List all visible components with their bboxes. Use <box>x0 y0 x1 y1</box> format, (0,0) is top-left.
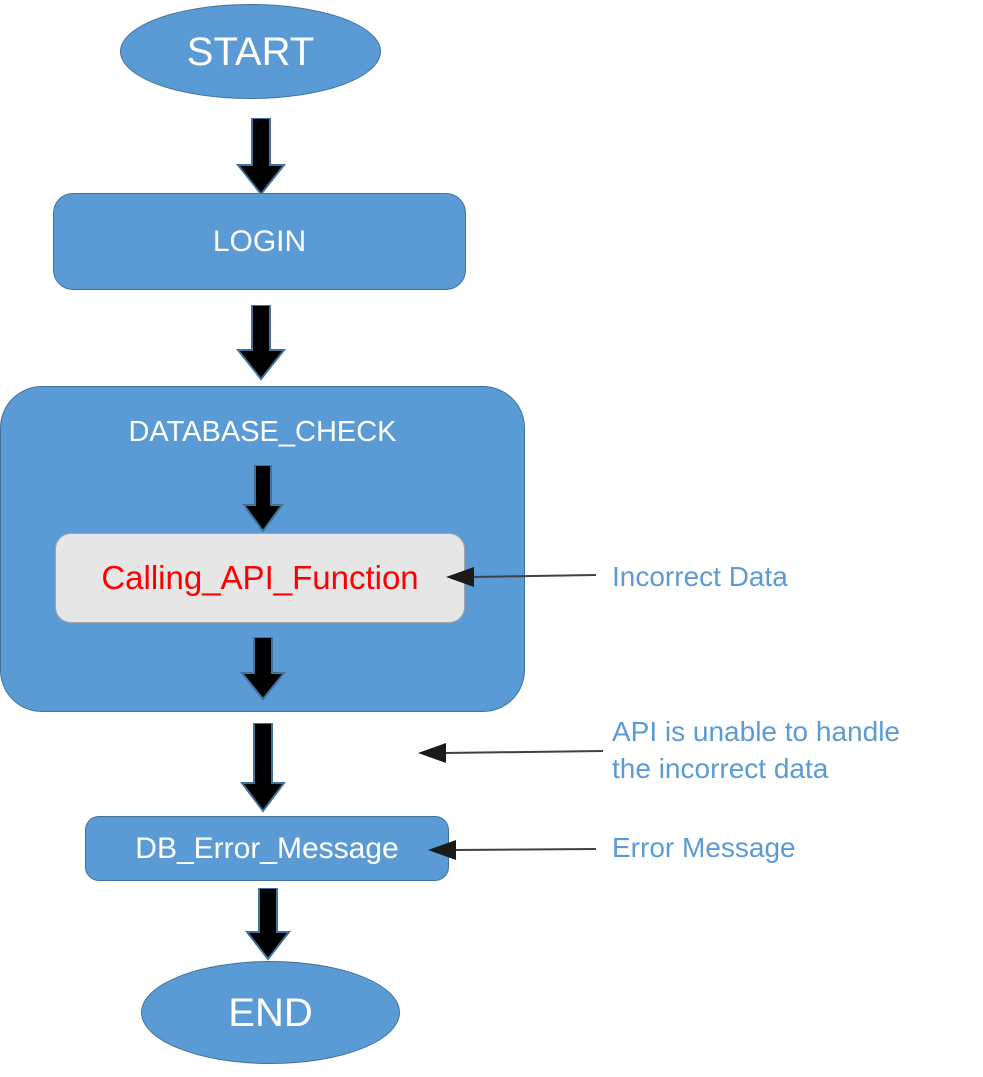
flow-arrow-database-check-to-api <box>240 465 286 533</box>
node-calling-api-function[interactable]: Calling_API_Function <box>55 533 465 623</box>
flow-arrow-db-error-to-end <box>243 888 293 961</box>
flow-arrow-start-to-login <box>233 118 289 196</box>
flow-arrow-api-to-container-exit <box>238 637 288 701</box>
annotation-connector-error-message <box>428 833 596 867</box>
annotation-connector-incorrect-data <box>446 560 596 594</box>
flow-arrow-login-to-database-check <box>233 305 289 381</box>
annotation-label-error-message: Error Message <box>612 830 796 867</box>
node-database-check-label: DATABASE_CHECK <box>128 417 396 449</box>
node-login-label: LOGIN <box>213 225 306 258</box>
node-start[interactable]: START <box>120 4 381 99</box>
annotation-connector-api-unable <box>418 736 603 770</box>
flow-arrow-database-check-to-db-error <box>238 723 288 813</box>
node-end[interactable]: END <box>141 961 400 1064</box>
node-db-error-message-label: DB_Error_Message <box>135 832 398 865</box>
node-db-error-message[interactable]: DB_Error_Message <box>85 816 449 881</box>
node-calling-api-function-label: Calling_API_Function <box>101 560 418 596</box>
annotation-label-api-unable: API is unable to handle the incorrect da… <box>612 714 900 788</box>
annotation-label-incorrect-data: Incorrect Data <box>612 559 788 596</box>
node-end-label: END <box>228 991 312 1035</box>
node-start-label: START <box>187 30 314 74</box>
flowchart-canvas: START LOGIN DATABASE_CHECK Calling_API_F… <box>0 0 983 1077</box>
node-login[interactable]: LOGIN <box>53 193 466 290</box>
